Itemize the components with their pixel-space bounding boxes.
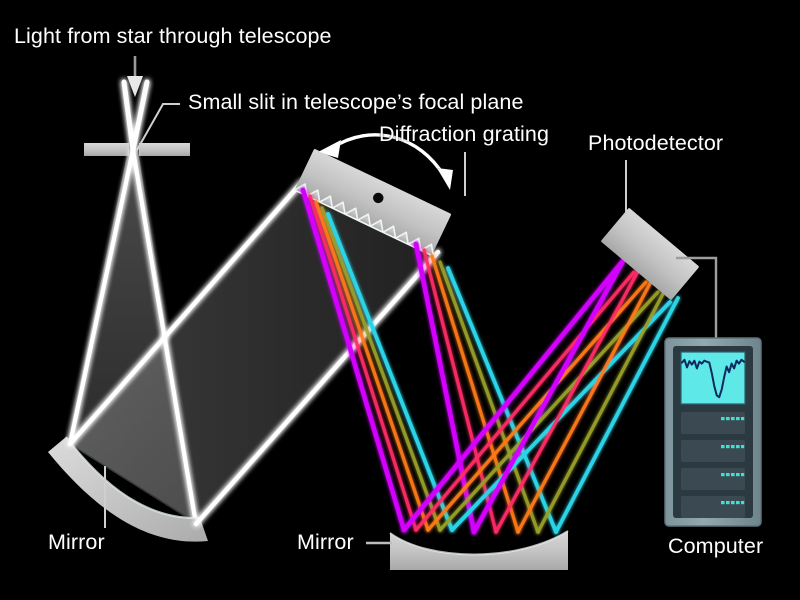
diagram-canvas: Light from star through telescope Small … bbox=[0, 0, 800, 600]
mirror-bottom-body bbox=[390, 531, 568, 570]
label-mirror-bottom: Mirror bbox=[297, 532, 354, 554]
label-slit: Small slit in telescope’s focal plane bbox=[188, 92, 524, 114]
mirror-bottom[interactable] bbox=[390, 531, 568, 570]
computer-panel[interactable] bbox=[681, 468, 745, 490]
computer-panel[interactable] bbox=[681, 496, 745, 518]
incoming-light-arrow bbox=[127, 56, 143, 97]
computer-panel[interactable] bbox=[681, 412, 745, 434]
label-photodetector: Photodetector bbox=[588, 133, 723, 155]
computer-panel[interactable] bbox=[681, 440, 745, 462]
slit-bar-left bbox=[84, 143, 129, 156]
computer[interactable] bbox=[665, 338, 761, 526]
label-computer: Computer bbox=[668, 536, 763, 558]
label-mirror-left: Mirror bbox=[48, 532, 105, 554]
slit-bar-right bbox=[139, 143, 190, 156]
label-light-source: Light from star through telescope bbox=[14, 26, 332, 48]
label-diffraction-grating: Diffraction grating bbox=[379, 124, 549, 146]
